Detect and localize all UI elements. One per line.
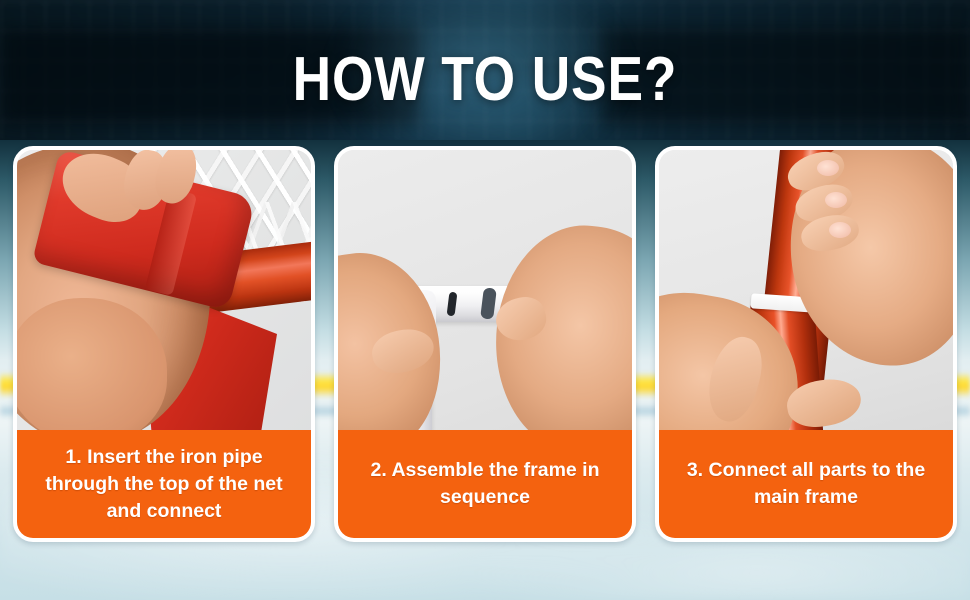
step-1-photo xyxy=(17,150,311,438)
step-1-caption: 1. Insert the iron pipe through the top … xyxy=(17,430,311,538)
fingernail xyxy=(825,192,847,208)
fingernail xyxy=(817,160,839,176)
fingernail xyxy=(829,222,851,238)
step-card-2: 2. Assemble the frame in sequence xyxy=(334,146,636,542)
step-2-photo xyxy=(338,150,632,438)
how-to-use-poster: HOW TO USE? 1. Insert the iron pipe thro… xyxy=(0,0,970,600)
step-2-caption: 2. Assemble the frame in sequence xyxy=(338,430,632,538)
steps-row: 1. Insert the iron pipe through the top … xyxy=(13,146,957,542)
page-title: HOW TO USE? xyxy=(68,47,902,113)
step-3-caption: 3. Connect all parts to the main frame xyxy=(659,430,953,538)
step-3-photo xyxy=(659,150,953,438)
step-card-1: 1. Insert the iron pipe through the top … xyxy=(13,146,315,542)
step-card-3: 3. Connect all parts to the main frame xyxy=(655,146,957,542)
